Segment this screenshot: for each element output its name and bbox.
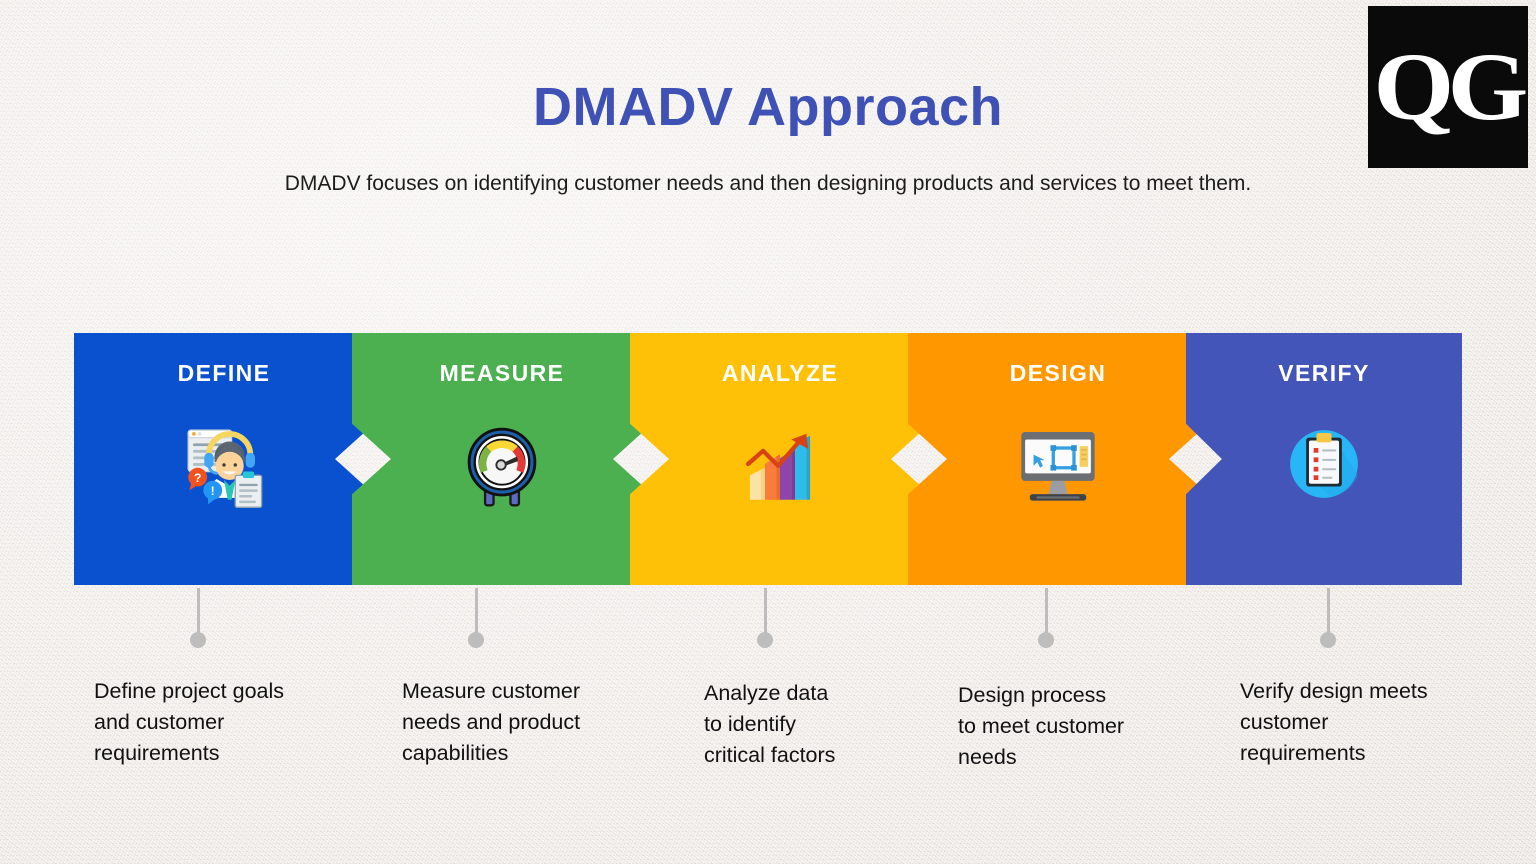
- process-step-label-verify: VERIFY: [1278, 360, 1369, 387]
- svg-text:!: !: [211, 484, 215, 498]
- connector-dot: [1038, 632, 1054, 648]
- caption-define: Define project goals and customer requir…: [94, 676, 356, 769]
- process-step-label-define: DEFINE: [178, 360, 271, 387]
- connector-dot: [757, 632, 773, 648]
- caption-verify: Verify design meets customer requirement…: [1240, 676, 1480, 769]
- page-title: DMADV Approach: [0, 76, 1536, 138]
- support-agent-icon: ? !: [176, 416, 272, 512]
- process-step-design[interactable]: DESIGN: [908, 333, 1208, 585]
- bar-chart-growth-icon: [732, 416, 828, 512]
- process-step-label-measure: MEASURE: [440, 360, 565, 387]
- process-step-measure[interactable]: MEASURE: [352, 333, 652, 585]
- caption-design: Design process to meet customer needs: [958, 680, 1188, 773]
- connector-stem: [197, 588, 200, 638]
- page-subtitle: DMADV focuses on identifying customer ne…: [0, 172, 1536, 196]
- brand-logo-text: QG: [1374, 39, 1522, 135]
- slide-canvas: DMADV Approach DMADV focuses on identify…: [0, 0, 1536, 864]
- svg-text:?: ?: [194, 471, 201, 485]
- process-step-analyze[interactable]: ANALYZE: [630, 333, 930, 585]
- connector-dot: [190, 632, 206, 648]
- desktop-design-icon: [1010, 416, 1106, 512]
- process-step-label-design: DESIGN: [1010, 360, 1107, 387]
- process-chevron-band: DEFINE: [74, 333, 1462, 585]
- caption-measure: Measure customer needs and product capab…: [402, 676, 652, 769]
- connector-stem: [764, 588, 767, 638]
- connector-dot: [1320, 632, 1336, 648]
- speedometer-gauge-icon: [454, 416, 550, 512]
- connector-dot: [468, 632, 484, 648]
- caption-analyze: Analyze data to identify critical factor…: [704, 678, 904, 771]
- connector-stem: [1045, 588, 1048, 638]
- connector-stem: [1327, 588, 1330, 638]
- connector-stem: [475, 588, 478, 638]
- process-step-define[interactable]: DEFINE: [74, 333, 374, 585]
- brand-logo: QG: [1368, 6, 1528, 168]
- clipboard-checklist-icon: [1276, 416, 1372, 512]
- process-step-label-analyze: ANALYZE: [722, 360, 838, 387]
- process-step-verify[interactable]: VERIFY: [1186, 333, 1462, 585]
